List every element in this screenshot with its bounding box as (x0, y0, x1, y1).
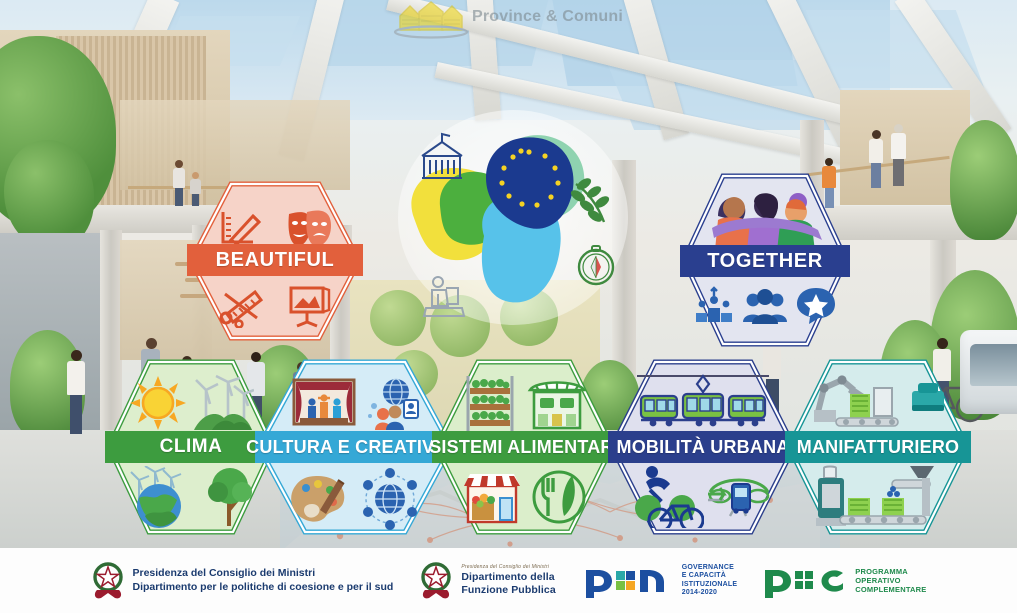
robot-arm-conveyor-icon (808, 372, 904, 430)
vertical-farm-icon (460, 374, 520, 434)
footer-logo-poc: PROGRAMMA OPERATIVO COMPLEMENTARE (763, 564, 926, 598)
footer-logo-bar: Presidenza del Consiglio dei Ministri Di… (0, 548, 1017, 613)
hexagon-clima-icons-top (105, 374, 277, 432)
presidenza-line2: Dipartimento per le politiche di coesion… (133, 581, 394, 594)
star-speech-bubble-icon (795, 284, 837, 326)
compass-icon (579, 246, 613, 284)
tree-icon (205, 466, 257, 530)
italian-republic-emblem-icon (419, 560, 453, 602)
sun-icon (128, 374, 188, 432)
globe-people-icon (364, 376, 420, 432)
funzione-pubblica-overline: Presidenza del Consiglio dei Ministri (461, 564, 555, 570)
hexagon-sistemi-label: SISTEMI ALIMENTARI (429, 437, 619, 458)
hexagon-together-band: TOGETHER (680, 245, 850, 277)
person-figure (868, 130, 884, 188)
province-comuni-mark-icon (386, 0, 476, 40)
shuttle-window (970, 344, 1017, 386)
footer-logo-pon: GOVERNANCE E CAPACITÀ ISTITUZIONALE 2014… (582, 564, 738, 598)
fork-leaf-icon (530, 468, 588, 526)
hexagon-clima-icons-bottom (105, 466, 277, 530)
poc-tag-line3: COMPLEMENTARE (855, 585, 926, 594)
footer-logo-funzione-pubblica: Presidenza del Consiglio dei Ministri Di… (419, 560, 555, 602)
hexagon-sistemi-icons-bottom (432, 468, 616, 526)
hexagon-together-label: TOGETHER (707, 250, 823, 273)
hexagon-clima-label: CLIMA (160, 436, 223, 458)
group-people-icon (741, 284, 789, 326)
hexagon-together[interactable]: TOGETHER (680, 172, 850, 348)
bus-station-icon (706, 466, 772, 526)
market-stall-icon (526, 374, 588, 434)
hexagon-beautiful-icons-bottom (187, 284, 363, 328)
hexagon-cultura-icons-bottom (255, 468, 455, 530)
pon-tag-line1: GOVERNANCE (682, 564, 738, 572)
greengrocer-shop-icon (460, 468, 522, 526)
cyclist-icon (634, 464, 704, 528)
product-box-icon (908, 377, 948, 425)
wood-ceiling-soffit (120, 100, 350, 190)
funzione-pubblica-line2: Funzione Pubblica (461, 584, 555, 597)
statue-icon (424, 277, 464, 316)
easel-picture-icon (285, 284, 333, 328)
hexagon-mobilita-label: MOBILITÀ URBANA (617, 437, 790, 458)
hexagon-mobilita-urbana[interactable]: MOBILITÀ URBANA (608, 358, 798, 536)
poc-tag-line2: OPERATIVO (855, 576, 926, 585)
pon-wordmark-icon (582, 564, 674, 598)
province-comuni-label: Province & Comuni (472, 8, 623, 26)
province-comuni-logo: Province & Comuni (386, 0, 646, 40)
team-podium-icon (693, 284, 735, 326)
hexagon-cultura-icons-top (255, 376, 455, 432)
hexagon-manifatturiero-band: MANIFATTURIERO (785, 431, 971, 463)
tram-icon (633, 370, 773, 428)
hexagon-beautiful-label: BEAUTIFUL (216, 249, 335, 272)
hexagon-cultura-e-creativita[interactable]: CULTURA E CREATIVITÀ (255, 358, 455, 536)
hexagon-together-icons-bottom (680, 284, 850, 326)
hexagon-manifatturiero-icons-bottom (785, 464, 971, 530)
hexagon-cultura-band: CULTURA E CREATIVITÀ (255, 431, 455, 463)
funzione-pubblica-line1: Dipartimento della (461, 571, 555, 584)
pon-tag-line4: 2014-2020 (682, 589, 738, 597)
person-figure (890, 124, 907, 186)
production-machine-icon (810, 464, 946, 530)
infographic-canvas: Province & Comuni (0, 0, 1017, 613)
hexagon-sistemi-icons-top (432, 374, 616, 434)
presidenza-line1: Presidenza del Consiglio dei Ministri (133, 567, 394, 580)
eu-cohesion-emblem (398, 110, 628, 325)
ruler-compass-icon (217, 284, 265, 328)
hexagon-manifatturiero[interactable]: MANIFATTURIERO (785, 358, 971, 536)
hexagon-manifatturiero-icons-top (785, 372, 971, 430)
pon-tag-line3: ISTITUZIONALE (682, 581, 738, 589)
hexagon-mobilita-band: MOBILITÀ URBANA (608, 431, 798, 463)
hexagon-manifatturiero-label: MANIFATTURIERO (797, 437, 959, 458)
poc-wordmark-icon (763, 564, 847, 598)
hexagon-mobilita-icons-top (608, 370, 798, 428)
hexagon-sistemi-band: SISTEMI ALIMENTARI (432, 431, 616, 463)
network-globe-icon (356, 468, 424, 530)
palette-brush-icon (286, 470, 350, 528)
italian-republic-emblem-icon (91, 560, 125, 602)
hexagon-beautiful-band: BEAUTIFUL (187, 244, 363, 276)
hexagon-sistemi-alimentari[interactable]: SISTEMI ALIMENTARI (432, 358, 616, 536)
footer-logo-presidenza: Presidenza del Consiglio dei Ministri Di… (91, 560, 394, 602)
hexagon-beautiful[interactable]: BEAUTIFUL (187, 180, 363, 342)
person-figure (66, 350, 86, 434)
hanging-plants (950, 120, 1017, 240)
earth-turbines-icon (125, 466, 205, 530)
hexagon-mobilita-icons-bottom (608, 464, 798, 528)
wind-turbines-hill-icon (190, 374, 254, 432)
person-figure (172, 160, 186, 206)
poc-tag-line1: PROGRAMMA (855, 567, 926, 576)
pon-tag-line2: E CAPACITÀ (682, 572, 738, 580)
theater-stage-icon (290, 376, 358, 432)
